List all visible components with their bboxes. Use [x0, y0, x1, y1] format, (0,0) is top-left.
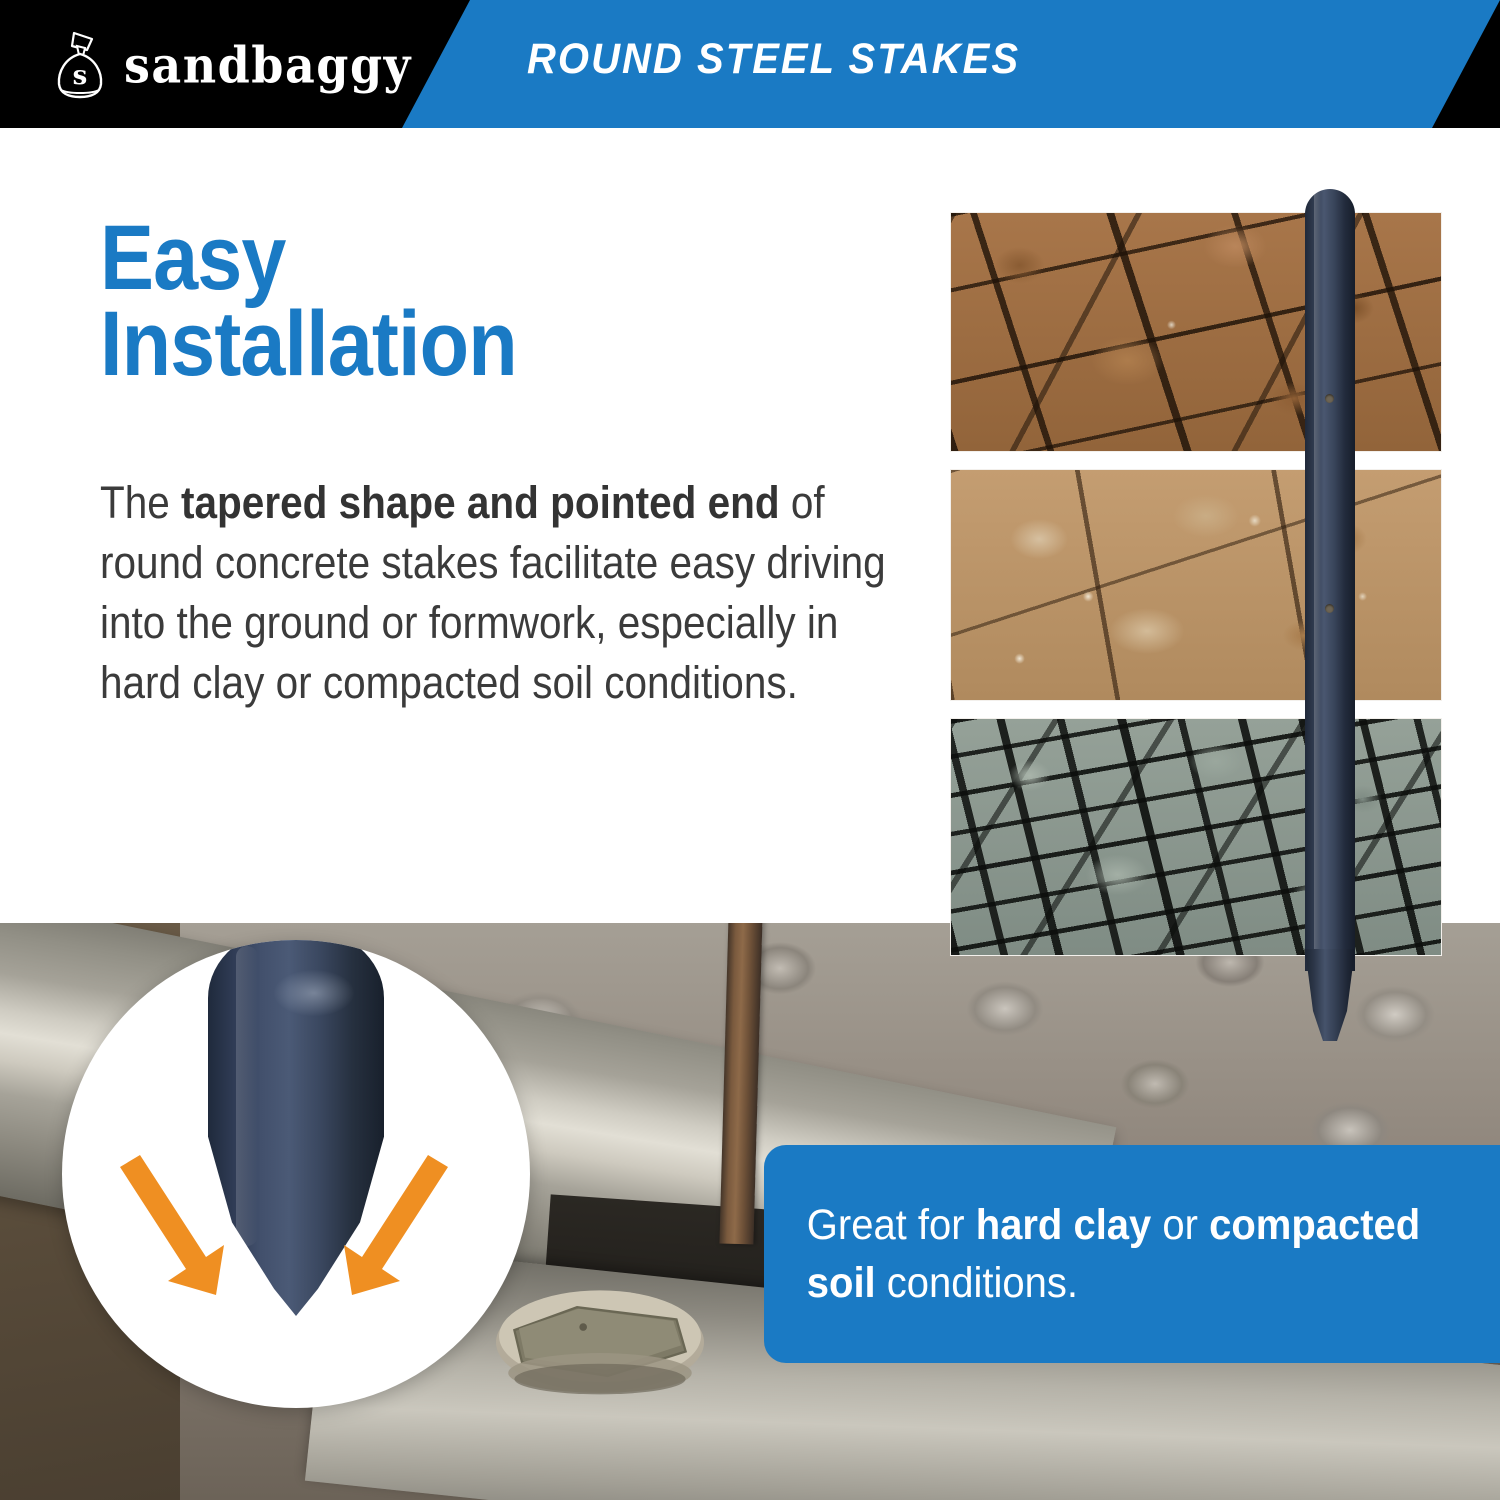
callout-part3: conditions. — [876, 1259, 1078, 1307]
callout-bold1: hard clay — [976, 1201, 1152, 1249]
header-bar: s sandbaggy ROUND STEEL STAKES — [0, 0, 1500, 128]
soil-strip-cracked-red-clay — [950, 212, 1442, 452]
stake-rivet-hole — [1325, 604, 1334, 613]
svg-text:s: s — [73, 61, 88, 91]
soil-strip-tan-rocky — [950, 469, 1442, 701]
inset-circle — [62, 940, 530, 1408]
body-text-bold1: tapered shape and pointed end — [181, 477, 780, 528]
arrow-left-down-icon — [118, 1145, 238, 1305]
callout-part2: or — [1151, 1201, 1209, 1249]
inset-stake-scuff — [274, 970, 354, 1016]
body-paragraph: The tapered shape and pointed end of rou… — [100, 473, 892, 712]
callout-box: Great for hard clay or compacted soil co… — [764, 1145, 1500, 1363]
infographic-canvas: Easy Installation The tapered shape and … — [0, 0, 1500, 1500]
header-title: ROUND STEEL STAKES — [527, 38, 1020, 81]
soil-strip-gray-cracked-mud — [950, 718, 1442, 956]
stake-rivet-hole — [1325, 394, 1334, 403]
brand-logo[interactable]: s sandbaggy — [52, 30, 412, 100]
stake-tip-closeup-inset — [62, 990, 530, 1408]
arrow-right-down-icon — [330, 1145, 450, 1305]
stake-highlight — [1314, 189, 1321, 959]
round-steel-stake — [1305, 189, 1355, 1029]
headline-line-1: Easy — [100, 216, 517, 302]
callout-part1: Great for — [807, 1201, 976, 1249]
page-title: Easy Installation — [100, 216, 517, 387]
headline-line-2: Installation — [100, 302, 517, 388]
stake-shaft — [1305, 189, 1355, 971]
brand-name: sandbaggy — [124, 40, 412, 90]
callout-text: Great for hard clay or compacted soil co… — [764, 1196, 1471, 1313]
body-text-part1: The — [100, 477, 181, 528]
soil-strip-gallery — [950, 212, 1442, 956]
sandbag-icon: s — [52, 30, 110, 100]
inset-stake-highlight — [236, 946, 258, 1246]
